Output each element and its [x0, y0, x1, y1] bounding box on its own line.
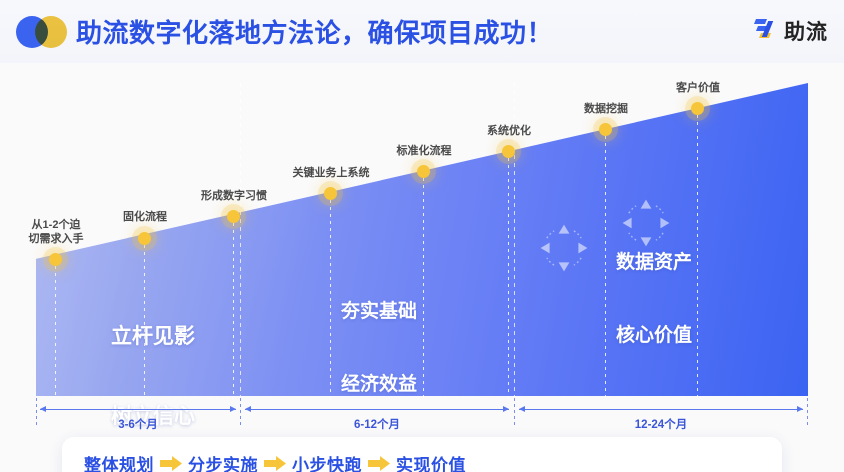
- duration-label-3: 12-24个月: [635, 416, 687, 432]
- milestone-stem: [605, 129, 606, 399]
- circular-arrows-icon: [537, 221, 591, 275]
- milestone-dot[interactable]: [138, 232, 151, 245]
- keyword-4: 实现价值: [396, 451, 466, 472]
- phase-separator: [240, 83, 241, 396]
- axis-tick: [36, 398, 37, 428]
- arrow-right-icon: [368, 456, 390, 471]
- milestone-dot[interactable]: [691, 102, 704, 115]
- milestone-dot[interactable]: [599, 123, 612, 136]
- milestone-stem: [330, 193, 331, 399]
- page-header: 助流数字化落地方法论，确保项目成功！ 助流: [0, 0, 844, 63]
- duration-arrow: [245, 409, 509, 410]
- milestone-label: 标准化流程: [397, 144, 452, 158]
- brand-lockup: 助流: [753, 16, 828, 46]
- milestone-label: 系统优化: [487, 124, 531, 138]
- phase-title-3-line1: 数据资产: [616, 251, 692, 275]
- keyword-flow: 整体规划 分步实施 小步快跑 实现价值: [84, 451, 466, 472]
- duration-label-1: 3-6个月: [118, 416, 158, 432]
- milestone-dot[interactable]: [49, 253, 62, 266]
- arrow-right-icon: [160, 456, 182, 471]
- axis-tick: [514, 398, 515, 428]
- duration-arrow: [40, 409, 236, 410]
- milestone-stem: [233, 216, 234, 399]
- timeline-axis: 3-6个月 6-12个月 12-24个月: [36, 398, 808, 432]
- brand-name: 助流: [784, 16, 828, 46]
- keyword-1: 整体规划: [84, 451, 154, 472]
- axis-tick: [807, 398, 808, 428]
- logo-circle-yellow: [35, 16, 67, 48]
- milestone-label: 从1-2个迫 切需求入手: [29, 218, 84, 246]
- keyword-3: 小步快跑: [292, 451, 362, 472]
- summary-card: 整体规划 分步实施 小步快跑 实现价值 数字化不是赶潮流，企业/组织应以实际需求…: [62, 437, 782, 472]
- milestone-stem: [697, 108, 698, 399]
- milestone-label: 关键业务上系统: [293, 166, 370, 180]
- milestone-stem: [55, 259, 56, 399]
- milestone-stem: [508, 151, 509, 399]
- arrow-right-icon: [264, 456, 286, 471]
- methodology-chart: 从1-2个迫 切需求入手 固化流程 形成数字习惯 关键业务上系统 标准化流程 系…: [0, 63, 844, 472]
- milestone-label: 数据挖掘: [584, 102, 628, 116]
- milestone-label: 形成数字习惯: [201, 189, 267, 203]
- keyword-2: 分步实施: [188, 451, 258, 472]
- milestone-dot[interactable]: [324, 187, 337, 200]
- phase-title-1-line1: 立杆见影: [111, 324, 195, 351]
- phase-title-2-line2: 经济效益: [341, 373, 417, 397]
- phase-title-3: 数据资产 核心价值: [616, 202, 692, 397]
- milestone-dot[interactable]: [502, 145, 515, 158]
- milestone-dot[interactable]: [417, 165, 430, 178]
- page-title: 助流数字化落地方法论，确保项目成功！: [76, 13, 553, 50]
- milestone-label: 客户价值: [676, 81, 720, 95]
- milestone-dot[interactable]: [227, 210, 240, 223]
- phase-title-3-line2: 核心价值: [616, 324, 692, 348]
- two-circles-logo-icon: [16, 16, 68, 48]
- axis-tick: [240, 398, 241, 428]
- phase-title-2-line1: 夯实基础: [341, 300, 417, 324]
- lightning-bolt-icon: [753, 17, 779, 45]
- duration-label-2: 6-12个月: [354, 416, 400, 432]
- duration-arrow: [519, 409, 803, 410]
- milestone-label: 固化流程: [123, 210, 167, 224]
- milestone-stem: [423, 171, 424, 399]
